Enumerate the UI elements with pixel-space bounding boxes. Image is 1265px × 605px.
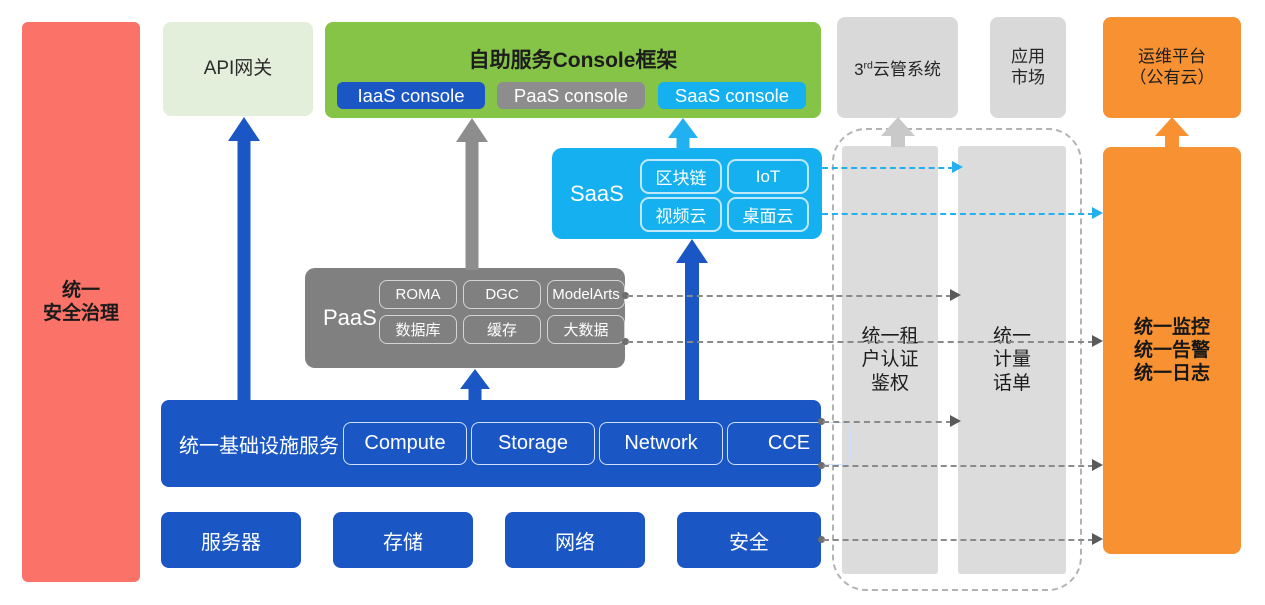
- ops-platform-public-cloud-card[interactable]: 运维平台 （公有云）: [1103, 17, 1241, 118]
- hardware-item-server-label: 服务器: [201, 526, 261, 555]
- ops-monitoring-label: 统一监控 统一告警 统一日志: [1134, 316, 1210, 386]
- paas-panel-label: PaaS: [323, 305, 377, 331]
- security-governance-column[interactable]: 统一 安全治理: [22, 22, 140, 582]
- unified-tenant-auth-column[interactable]: 统一租 户认证 鉴权: [842, 146, 938, 574]
- paas-panel[interactable]: PaaS ROMA DGC ModelArts 数据库 缓存 大数据: [305, 268, 625, 368]
- hardware-item-storage[interactable]: 存储: [333, 512, 473, 568]
- paas-item-dgc[interactable]: DGC: [463, 280, 541, 309]
- infra-item-storage[interactable]: Storage: [471, 422, 595, 465]
- hardware-item-security[interactable]: 安全: [677, 512, 821, 568]
- saas-item-iot[interactable]: IoT: [727, 159, 809, 194]
- api-gateway-label: API网关: [204, 57, 273, 80]
- arrow-infra-to-api-gateway: [228, 117, 260, 401]
- paas-item-cache-label: 缓存: [487, 319, 517, 340]
- paas-item-dgc-label: DGC: [485, 286, 518, 303]
- arrow-paas-to-console: [456, 118, 488, 270]
- saas-console-label: SaaS console: [675, 85, 789, 107]
- dashed-infra-row1-arrowhead: [950, 415, 961, 427]
- dashed-saas-to-ops-arrowhead: [1092, 207, 1103, 219]
- architecture-diagram: 统一 安全治理 API网关 自助服务Console框架 IaaS console…: [0, 0, 1265, 605]
- iaas-console-label: IaaS console: [358, 85, 465, 107]
- paas-item-modelarts[interactable]: ModelArts: [547, 280, 625, 309]
- saas-console-pill[interactable]: SaaS console: [658, 82, 806, 109]
- unified-metering-label: 统一 计量 话单: [993, 325, 1031, 395]
- unified-infrastructure-label: 统一基础设施服务: [179, 429, 339, 458]
- arrow-ops-column-to-ops-platform: [1155, 117, 1189, 147]
- arrow-saas-to-console: [668, 118, 698, 150]
- arrow-infra-to-saas: [676, 239, 708, 401]
- saas-item-iot-label: IoT: [756, 167, 781, 187]
- self-service-console-frame[interactable]: 自助服务Console框架 IaaS console PaaS console …: [325, 22, 821, 118]
- hardware-item-network-label: 网络: [555, 526, 595, 555]
- infra-item-cce[interactable]: CCE: [727, 422, 851, 465]
- console-frame-title: 自助服务Console框架: [325, 44, 821, 74]
- hardware-item-security-label: 安全: [729, 526, 769, 555]
- paas-item-roma[interactable]: ROMA: [379, 280, 457, 309]
- third-party-cloud-mgmt-card[interactable]: 3rd云管系统: [837, 17, 958, 118]
- arrow-infra-to-paas: [459, 369, 491, 401]
- saas-item-blockchain[interactable]: 区块链: [640, 159, 722, 194]
- dashed-saas-to-metering-upper: [822, 167, 954, 169]
- dashed-paas-row1-to-tenant-auth: [627, 295, 952, 297]
- saas-panel-label: SaaS: [570, 181, 624, 207]
- arrow-shared-to-third-party-cloud: [881, 117, 915, 147]
- infra-item-cce-label: CCE: [768, 432, 810, 455]
- hardware-item-network[interactable]: 网络: [505, 512, 645, 568]
- ops-monitoring-column[interactable]: 统一监控 统一告警 统一日志: [1103, 147, 1241, 554]
- infra-item-compute-label: Compute: [364, 432, 445, 455]
- dashed-infra-row2-to-ops: [823, 465, 1094, 467]
- infra-item-storage-label: Storage: [498, 432, 568, 455]
- app-market-card[interactable]: 应用 市场: [990, 17, 1066, 118]
- paas-item-database[interactable]: 数据库: [379, 315, 457, 344]
- dashed-paas-row2-to-ops: [627, 341, 1094, 343]
- unified-tenant-auth-label: 统一租 户认证 鉴权: [861, 325, 918, 395]
- dashed-hardware-arrowhead: [1092, 533, 1103, 545]
- paas-item-bigdata-label: 大数据: [563, 319, 608, 340]
- paas-item-roma-label: ROMA: [396, 286, 441, 303]
- api-gateway-card[interactable]: API网关: [163, 22, 313, 116]
- dashed-saas-to-metering-upper-arrowhead: [952, 161, 963, 173]
- infra-item-compute[interactable]: Compute: [343, 422, 467, 465]
- saas-item-blockchain-label: 区块链: [656, 164, 707, 189]
- saas-item-video-cloud[interactable]: 视频云: [640, 197, 722, 232]
- dashed-paas-row2-arrowhead: [1092, 335, 1103, 347]
- security-governance-label: 统一 安全治理: [43, 279, 119, 325]
- paas-item-bigdata[interactable]: 大数据: [547, 315, 625, 344]
- saas-panel[interactable]: SaaS 区块链 IoT 视频云 桌面云: [552, 148, 822, 239]
- dashed-infra-row1-to-tenant-auth: [823, 421, 952, 423]
- iaas-console-pill[interactable]: IaaS console: [337, 82, 485, 109]
- paas-console-label: PaaS console: [514, 85, 628, 107]
- unified-metering-column[interactable]: 统一 计量 话单: [958, 146, 1066, 574]
- paas-console-pill[interactable]: PaaS console: [497, 82, 645, 109]
- dashed-paas-row1-arrowhead: [950, 289, 961, 301]
- dashed-hardware-to-ops: [823, 539, 1094, 541]
- dashed-infra-row2-arrowhead: [1092, 459, 1103, 471]
- saas-item-desktop-cloud-label: 桌面云: [743, 202, 794, 227]
- infra-item-network[interactable]: Network: [599, 422, 723, 465]
- paas-item-database-label: 数据库: [395, 319, 440, 340]
- paas-item-modelarts-label: ModelArts: [552, 286, 620, 303]
- infra-item-network-label: Network: [624, 432, 697, 455]
- saas-item-desktop-cloud[interactable]: 桌面云: [727, 197, 809, 232]
- hardware-item-storage-label: 存储: [383, 526, 423, 555]
- ops-platform-label: 运维平台 （公有云）: [1130, 47, 1215, 88]
- unified-infrastructure-bar[interactable]: 统一基础设施服务 Compute Storage Network CCE: [161, 400, 821, 487]
- app-market-label: 应用 市场: [1011, 47, 1045, 88]
- hardware-item-server[interactable]: 服务器: [161, 512, 301, 568]
- saas-item-video-cloud-label: 视频云: [656, 202, 707, 227]
- third-party-cloud-mgmt-label: 3rd云管系统: [854, 55, 941, 80]
- paas-item-cache[interactable]: 缓存: [463, 315, 541, 344]
- dashed-saas-to-ops: [822, 213, 1094, 215]
